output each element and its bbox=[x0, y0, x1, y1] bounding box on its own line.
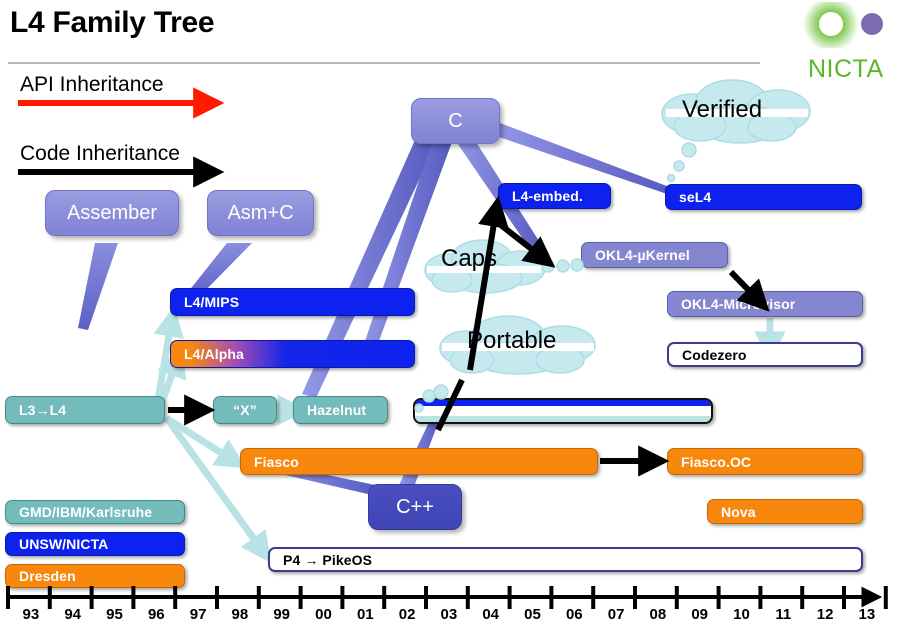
node-label: Fiasco.OC bbox=[668, 454, 751, 470]
timeline-year: 98 bbox=[219, 606, 261, 623]
timeline-year: 05 bbox=[512, 606, 554, 623]
legend-api-label: API Inheritance bbox=[20, 73, 164, 97]
node-label: “X” bbox=[214, 402, 276, 418]
node-label: L4/Alpha bbox=[171, 346, 244, 362]
key-dresden: Dresden bbox=[5, 564, 185, 588]
portable-bubble-2 bbox=[434, 385, 448, 399]
node-label: OKL4-Microvisor bbox=[668, 296, 795, 312]
node-label: seL4 bbox=[666, 189, 711, 205]
callout-label: C bbox=[448, 110, 462, 133]
node-label: L4-embed. bbox=[499, 188, 583, 204]
page-title: L4 Family Tree bbox=[10, 6, 214, 40]
timeline-year: 93 bbox=[10, 606, 52, 623]
callout-asm-c[interactable]: Asm+C bbox=[207, 190, 314, 236]
node-fiasco[interactable]: Fiasco bbox=[240, 448, 598, 475]
caps-bubble-2 bbox=[557, 260, 569, 272]
node-label: Codezero bbox=[669, 347, 747, 363]
node-label: Fiasco bbox=[241, 454, 299, 470]
node-label: Hazelnut bbox=[294, 402, 366, 418]
timeline-year: 11 bbox=[762, 606, 804, 623]
timeline-year: 08 bbox=[637, 606, 679, 623]
key-label: Dresden bbox=[6, 568, 76, 584]
node-codezero[interactable]: Codezero bbox=[667, 342, 863, 367]
timeline-year: 13 bbox=[846, 606, 888, 623]
nicta-wordmark: NICTA bbox=[808, 55, 884, 84]
legend-code-label: Code Inheritance bbox=[20, 142, 180, 166]
node-label: OKL4-µKernel bbox=[582, 247, 690, 263]
callout-cpp[interactable]: C++ bbox=[368, 484, 462, 530]
timeline-year: 99 bbox=[261, 606, 303, 623]
node-l4-embedded[interactable]: L4-embed. bbox=[498, 183, 611, 209]
node-x[interactable]: “X” bbox=[213, 396, 277, 424]
node-okl4-ukernel[interactable]: OKL4-µKernel bbox=[581, 242, 728, 268]
key-gmd-ibm-karlsruhe: GMD/IBM/Karlsruhe bbox=[5, 500, 185, 524]
node-sel4[interactable]: seL4 bbox=[665, 184, 862, 210]
timeline-year: 97 bbox=[177, 606, 219, 623]
timeline-year: 10 bbox=[721, 606, 763, 623]
timeline-year: 03 bbox=[428, 606, 470, 623]
node-label: P4 → PikeOS bbox=[270, 552, 372, 568]
ribbon-assember bbox=[78, 243, 118, 330]
timeline-year: 07 bbox=[595, 606, 637, 623]
thought-bubble-3 bbox=[668, 175, 675, 182]
callout-c[interactable]: C bbox=[411, 98, 500, 144]
timeline-year: 96 bbox=[135, 606, 177, 623]
timeline-year: 06 bbox=[553, 606, 595, 623]
node-l4ka-pistachio[interactable] bbox=[413, 398, 713, 424]
timeline-year: 04 bbox=[470, 606, 512, 623]
key-label: GMD/IBM/Karlsruhe bbox=[6, 504, 152, 520]
cloud-caps-label: Caps bbox=[441, 245, 497, 273]
node-l4-alpha[interactable]: L4/Alpha bbox=[170, 340, 415, 368]
pistachio-bottom-stripe bbox=[415, 416, 711, 422]
node-okl4-microvisor[interactable]: OKL4-Microvisor bbox=[667, 291, 863, 317]
callout-assember[interactable]: Assember bbox=[45, 190, 179, 236]
arrow-l4embed-okl4 bbox=[497, 222, 548, 262]
node-label: L4/MIPS bbox=[171, 294, 239, 310]
ribbon-c-alpha bbox=[360, 142, 452, 360]
callout-label: C++ bbox=[396, 496, 434, 519]
slide-canvas: L4 Family Tree API Inheritance Code Inhe… bbox=[0, 0, 901, 631]
nicta-logo-mark bbox=[800, 2, 900, 48]
arrow-l3l4-fiasco bbox=[166, 418, 236, 462]
timeline-year: 09 bbox=[679, 606, 721, 623]
node-hazelnut[interactable]: Hazelnut bbox=[293, 396, 388, 424]
pistachio-top-stripe bbox=[415, 400, 711, 406]
callout-label: Assember bbox=[67, 202, 157, 225]
node-fiasco-oc[interactable]: Fiasco.OC bbox=[667, 448, 863, 475]
cloud-verified-label: Verified bbox=[682, 96, 762, 124]
header-divider bbox=[8, 62, 760, 64]
node-label: Nova bbox=[708, 504, 756, 520]
timeline-year: 94 bbox=[52, 606, 94, 623]
node-l4-mips[interactable]: L4/MIPS bbox=[170, 288, 415, 316]
node-l3-l4[interactable]: L3→L4 bbox=[5, 396, 165, 424]
cloud-portable-label: Portable bbox=[467, 327, 556, 355]
thought-bubble-2 bbox=[674, 161, 684, 171]
caps-bubble-1 bbox=[542, 260, 554, 272]
timeline-year: 01 bbox=[344, 606, 386, 623]
timeline-year: 00 bbox=[303, 606, 345, 623]
node-nova[interactable]: Nova bbox=[707, 499, 863, 524]
timeline-year: 95 bbox=[94, 606, 136, 623]
key-unsw-nicta: UNSW/NICTA bbox=[5, 532, 185, 556]
callout-label: Asm+C bbox=[227, 202, 293, 225]
thought-bubble-1 bbox=[682, 143, 696, 157]
timeline-year: 02 bbox=[386, 606, 428, 623]
timeline-year: 12 bbox=[804, 606, 846, 623]
node-p4-pikeos[interactable]: P4 → PikeOS bbox=[268, 547, 863, 572]
node-label: L3→L4 bbox=[6, 402, 66, 418]
key-label: UNSW/NICTA bbox=[6, 536, 108, 552]
